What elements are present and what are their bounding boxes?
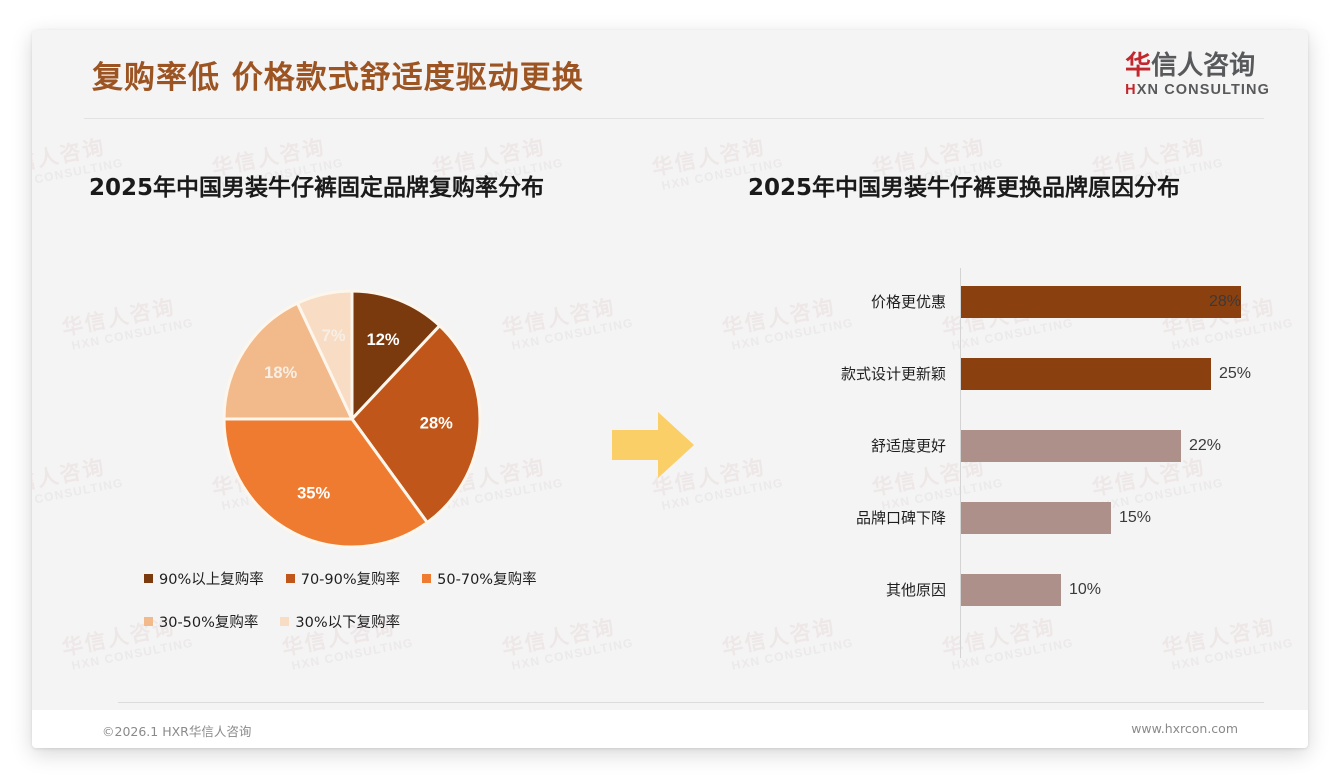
bar-track: 10%	[961, 568, 1278, 612]
legend-row: 90%以上复购率 70-90%复购率 50-70%复购率	[144, 568, 614, 589]
page-title: 复购率低 价格款式舒适度驱动更换	[92, 52, 584, 97]
bar-category-label: 款式设计更新颖	[748, 352, 946, 396]
right-arrow-icon	[612, 408, 696, 482]
legend-swatch-icon	[144, 617, 153, 626]
legend-item-2[interactable]: 50-70%复购率	[422, 568, 536, 589]
legend-row: 30-50%复购率 30%以下复购率	[144, 611, 614, 632]
logo-cn-red: 华	[1125, 51, 1151, 81]
pie-svg: 12%28%35%18%7%	[221, 288, 483, 550]
bar-track: 28%	[961, 280, 1278, 324]
pie-slice-label: 28%	[420, 415, 453, 433]
logo-english: HXN CONSULTING	[1125, 82, 1270, 98]
bar-track: 15%	[961, 496, 1278, 540]
bar-category-label: 其他原因	[748, 568, 946, 612]
slide-footer: ©2026.1 HXR华信人咨询 www.hxrcon.com	[32, 710, 1308, 748]
slide-header: 复购率低 价格款式舒适度驱动更换 华信人咨询 HXN CONSULTING	[32, 30, 1308, 120]
legend-label: 30-50%复购率	[159, 611, 258, 632]
bar-category-label: 品牌口碑下降	[748, 496, 946, 540]
footer-copyright: ©2026.1 HXR华信人咨询	[102, 721, 251, 740]
bar-track: 25%	[961, 352, 1278, 396]
right-chart-title: 2025年中国男装牛仔裤更换品牌原因分布	[748, 168, 1180, 202]
bar-value-label: 25%	[1219, 358, 1251, 390]
legend-label: 30%以下复购率	[295, 611, 400, 632]
bar-row: 款式设计更新颖25%	[748, 352, 1278, 396]
bar-row: 品牌口碑下降15%	[748, 496, 1278, 540]
legend-label: 90%以上复购率	[159, 568, 264, 589]
legend-item-3[interactable]: 30-50%复购率	[144, 611, 258, 632]
bar-category-label: 价格更优惠	[748, 280, 946, 324]
left-chart-title: 2025年中国男装牛仔裤固定品牌复购率分布	[89, 168, 544, 202]
pie-legend: 90%以上复购率 70-90%复购率 50-70%复购率 30-50%复购率	[144, 568, 614, 654]
legend-label: 50-70%复购率	[437, 568, 536, 589]
bar-row: 其他原因10%	[748, 568, 1278, 612]
legend-swatch-icon	[144, 574, 153, 583]
bar-category-label: 舒适度更好	[748, 424, 946, 468]
legend-swatch-icon	[286, 574, 295, 583]
header-divider	[84, 118, 1264, 119]
logo-cn-grey: 信人咨询	[1151, 51, 1255, 81]
footnote-divider	[118, 702, 1264, 703]
switch-reason-bar-chart: 价格更优惠28%款式设计更新颖25%舒适度更好22%品牌口碑下降15%其他原因1…	[748, 268, 1278, 658]
legend-label: 70-90%复购率	[301, 568, 400, 589]
legend-swatch-icon	[280, 617, 289, 626]
bar-fill[interactable]	[961, 574, 1061, 606]
legend-item-0[interactable]: 90%以上复购率	[144, 568, 264, 589]
pie-slice-label: 7%	[322, 327, 346, 345]
slide-card: 华信人咨询HXN CONSULTING华信人咨询HXN CONSULTING华信…	[32, 30, 1308, 748]
pie-slice-label: 18%	[264, 364, 297, 382]
bar-fill[interactable]	[961, 358, 1211, 390]
legend-item-4[interactable]: 30%以下复购率	[280, 611, 400, 632]
pie-slice-label: 12%	[367, 331, 400, 349]
arrow-svg	[612, 408, 696, 482]
bar-fill[interactable]	[961, 502, 1111, 534]
bar-row: 舒适度更好22%	[748, 424, 1278, 468]
bar-fill[interactable]	[961, 286, 1241, 318]
bar-track: 22%	[961, 424, 1278, 468]
logo-chinese: 华信人咨询	[1125, 52, 1270, 80]
bar-value-label: 10%	[1069, 574, 1101, 606]
legend-swatch-icon	[422, 574, 431, 583]
bar-fill[interactable]	[961, 430, 1181, 462]
bar-value-label: 15%	[1119, 502, 1151, 534]
brand-logo: 华信人咨询 HXN CONSULTING	[1125, 52, 1270, 98]
logo-en-h: H	[1125, 82, 1137, 98]
pie-slice-label: 35%	[297, 485, 330, 503]
bar-value-label: 22%	[1189, 430, 1221, 462]
footer-website[interactable]: www.hxrcon.com	[1131, 721, 1238, 736]
slide-content: 2025年中国男装牛仔裤固定品牌复购率分布 2025年中国男装牛仔裤更换品牌原因…	[32, 120, 1308, 680]
bar-row: 价格更优惠28%	[748, 280, 1278, 324]
logo-en-rest: XN CONSULTING	[1137, 82, 1270, 98]
legend-item-1[interactable]: 70-90%复购率	[286, 568, 400, 589]
bar-value-label: 28%	[1209, 286, 1241, 318]
repurchase-rate-pie-chart: 12%28%35%18%7%	[221, 288, 483, 550]
